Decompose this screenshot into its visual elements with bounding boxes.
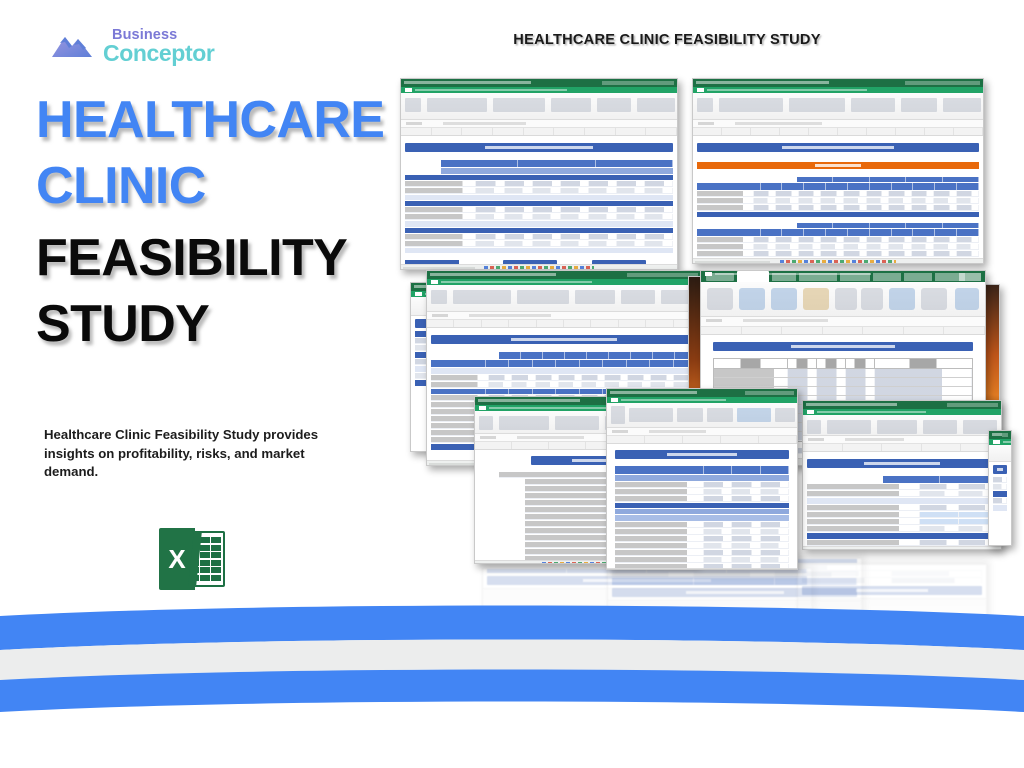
- sheet-tab-bar[interactable]: [803, 546, 1001, 550]
- column-headers: [701, 327, 985, 335]
- tab-revision[interactable]: [904, 273, 932, 281]
- window-income-statement[interactable]: [606, 388, 798, 570]
- column-headers: [427, 320, 701, 328]
- sheet-title-banner: [431, 335, 697, 344]
- hero-line-1: HEALTHCARE: [36, 96, 406, 146]
- sheet-title-banner: [405, 143, 673, 152]
- sheet-area[interactable]: [401, 136, 677, 270]
- window-revenue[interactable]: [400, 78, 678, 270]
- sheet-tab-bar[interactable]: [693, 258, 983, 264]
- title-bar: [693, 79, 983, 87]
- formula-bar[interactable]: [607, 428, 797, 436]
- formula-bar[interactable]: [427, 312, 701, 320]
- sheet-area[interactable]: [693, 136, 983, 264]
- formula-bar[interactable]: [693, 120, 983, 128]
- tab-formules[interactable]: [840, 273, 870, 281]
- hero-line-4: STUDY: [36, 300, 406, 350]
- ribbon: [803, 415, 1001, 436]
- header-title: HEALTHCARE CLINIC FEASIBILITY STUDY: [432, 32, 902, 48]
- share-button[interactable]: [959, 273, 981, 281]
- title-bar: [427, 271, 701, 279]
- title-bar: [607, 389, 797, 397]
- sheet-tab-bar[interactable]: [607, 568, 797, 570]
- column-headers: [401, 128, 677, 136]
- formula-bar[interactable]: [401, 120, 677, 128]
- ribbon-tab-strip[interactable]: [701, 271, 985, 282]
- formula-bar[interactable]: [803, 436, 1001, 444]
- column-headers: [803, 444, 1001, 452]
- mountain-icon: [50, 30, 110, 60]
- column-headers: [607, 436, 797, 444]
- section-banner-orange: [697, 162, 979, 169]
- sheet-title-banner: [615, 450, 789, 459]
- ribbon: [427, 285, 701, 312]
- excel-icon: X: [159, 528, 225, 590]
- tab-mise-en-page[interactable]: [799, 273, 837, 281]
- slide-canvas: Business Conceptor HEALTHCARE CLINIC FEA…: [0, 0, 1024, 768]
- screenshot-collage: [392, 70, 1012, 630]
- tab-donnees[interactable]: [873, 273, 901, 281]
- title-bar: [401, 79, 677, 87]
- sheet-area[interactable]: [803, 452, 1001, 550]
- logo-word-conceptor: Conceptor: [103, 40, 214, 67]
- footer-wave-graphic: [0, 588, 1024, 768]
- window-background-right[interactable]: [988, 430, 1012, 546]
- ribbon: [701, 282, 985, 317]
- ribbon: [693, 93, 983, 120]
- sheet-title-banner: [713, 342, 973, 351]
- tab-dessin[interactable]: [772, 273, 796, 281]
- window-depreciation[interactable]: [692, 78, 984, 264]
- sheet-area[interactable]: [607, 444, 797, 570]
- hero-heading: HEALTHCARE CLINIC FEASIBILITY STUDY: [36, 96, 406, 366]
- brand-logo: Business Conceptor: [50, 26, 250, 68]
- ribbon: [607, 403, 797, 428]
- sheet-title-banner: [807, 459, 997, 468]
- ribbon: [401, 93, 677, 120]
- sheet-title-banner: [697, 143, 979, 152]
- excel-icon-letter: X: [159, 528, 195, 590]
- hero-subtitle: Healthcare Clinic Feasibility Study prov…: [44, 426, 360, 482]
- column-headers: [693, 128, 983, 136]
- formula-bar[interactable]: [701, 317, 985, 327]
- tab-accueil[interactable]: [706, 273, 734, 281]
- window-funding[interactable]: [802, 400, 1002, 550]
- tab-insertion[interactable]: [737, 271, 769, 282]
- hero-line-3: FEASIBILITY: [36, 234, 406, 284]
- title-bar: [803, 401, 1001, 409]
- wave-band-blue-bottom: [0, 670, 1024, 713]
- hero-line-2: CLINIC: [36, 162, 406, 212]
